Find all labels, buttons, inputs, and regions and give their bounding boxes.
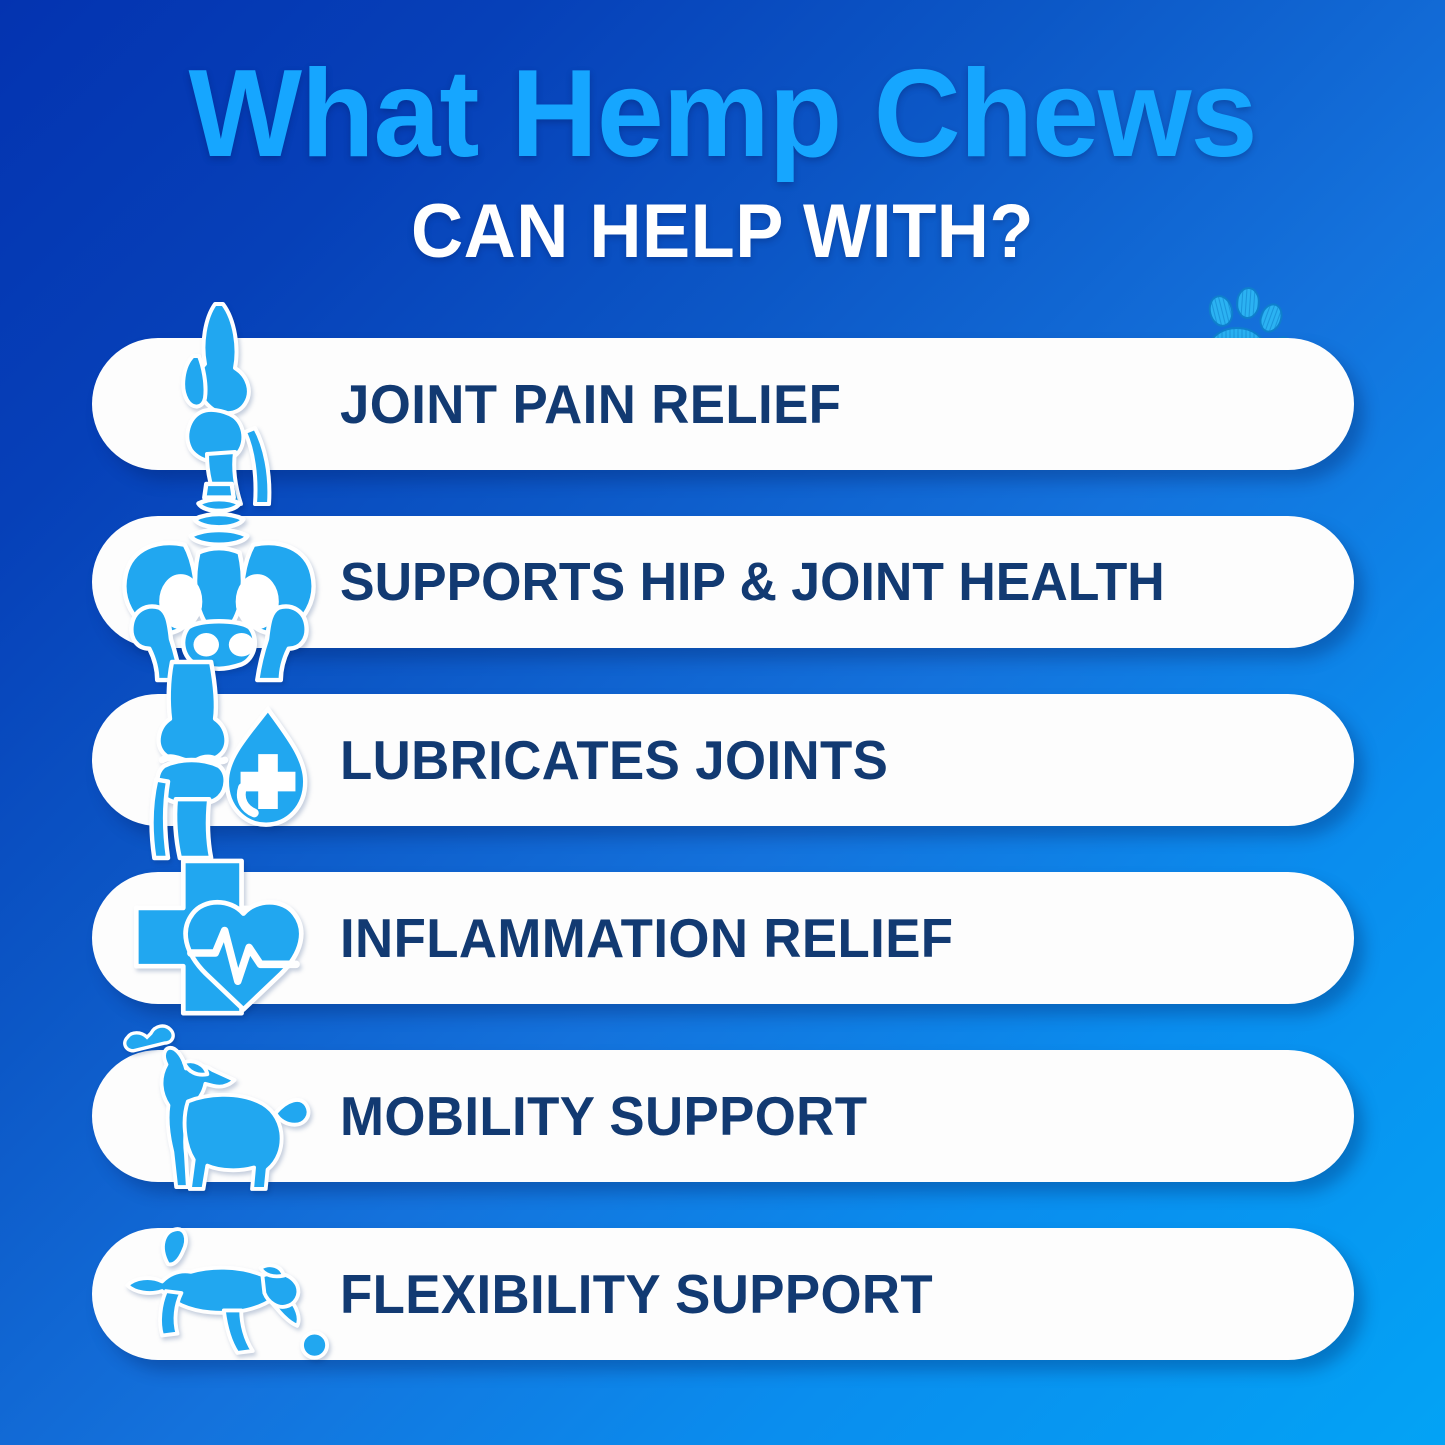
benefit-row-lubricates-joints[interactable]: LUBRICATES JOINTS [92, 694, 1354, 826]
benefit-row-supports-hip-joint-health[interactable]: SUPPORTS HIP & JOINT HEALTH [92, 516, 1354, 648]
medical-cross-heart-pulse-icon [114, 840, 324, 1036]
benefit-list: JOINT PAIN RELIEF [0, 338, 1445, 1406]
poster-canvas: What Hemp Chews CAN HELP WITH? [0, 0, 1445, 1445]
knee-joint-bone-icon [114, 306, 324, 502]
benefit-label: FLEXIBILITY SUPPORT [340, 1262, 933, 1326]
page-title: What Hemp Chews [22, 52, 1424, 176]
joint-with-medical-droplet-icon [114, 662, 324, 858]
benefit-label: SUPPORTS HIP & JOINT HEALTH [340, 551, 1165, 613]
hip-pelvis-bone-icon [114, 484, 324, 680]
benefit-row-joint-pain-relief[interactable]: JOINT PAIN RELIEF [92, 338, 1354, 470]
header: What Hemp Chews CAN HELP WITH? [0, 0, 1445, 270]
jumping-dog-with-ball-icon [114, 1196, 324, 1392]
benefit-label: JOINT PAIN RELIEF [340, 372, 841, 436]
benefit-label: LUBRICATES JOINTS [340, 728, 888, 792]
standing-dog-with-bone-icon [114, 1018, 324, 1214]
benefit-label: MOBILITY SUPPORT [340, 1084, 867, 1148]
benefit-row-mobility-support[interactable]: MOBILITY SUPPORT [92, 1050, 1354, 1182]
page-subtitle: CAN HELP WITH? [36, 194, 1409, 270]
benefit-row-flexibility-support[interactable]: FLEXIBILITY SUPPORT [92, 1228, 1354, 1360]
benefit-row-inflammation-relief[interactable]: INFLAMMATION RELIEF [92, 872, 1354, 1004]
benefit-label: INFLAMMATION RELIEF [340, 906, 953, 970]
